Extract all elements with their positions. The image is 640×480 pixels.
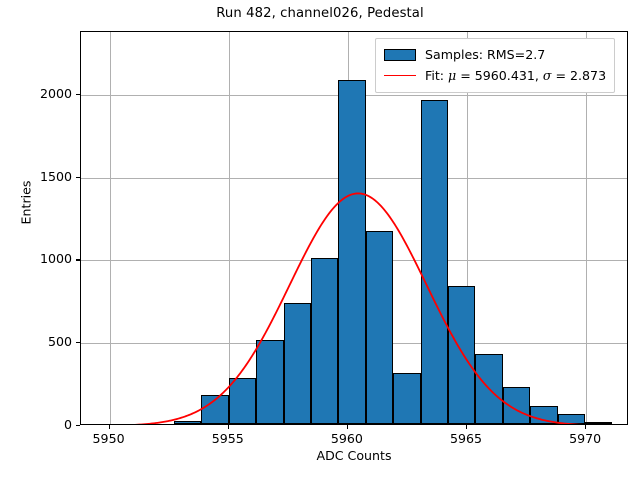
legend-label-samples: Samples: RMS=2.7 bbox=[425, 47, 545, 62]
x-tick-label-0: 5950 bbox=[74, 431, 144, 446]
table-row bbox=[530, 406, 557, 424]
table-row bbox=[256, 340, 283, 424]
table-row bbox=[284, 303, 311, 424]
y-tick-label-0: 0 bbox=[12, 417, 72, 432]
table-row bbox=[558, 414, 585, 424]
table-row bbox=[503, 387, 530, 424]
legend-mu-symbol: μ bbox=[448, 68, 456, 83]
chart-legend: Samples: RMS=2.7 Fit: μ = 5960.431, σ = … bbox=[375, 38, 615, 93]
table-row bbox=[393, 373, 420, 424]
chart-figure: Run 482, channel026, Pedestal 5950595559… bbox=[0, 0, 640, 480]
x-tick-mark-0 bbox=[109, 425, 110, 429]
legend-sigma-value: = 2.873 bbox=[551, 68, 606, 83]
y-tick-mark-4 bbox=[76, 94, 80, 95]
x-tick-mark-3 bbox=[466, 425, 467, 429]
legend-fit-prefix: Fit: bbox=[425, 68, 448, 83]
table-row bbox=[174, 421, 201, 424]
x-tick-mark-1 bbox=[228, 425, 229, 429]
gridline-vertical-1 bbox=[229, 32, 230, 424]
legend-entry-samples: Samples: RMS=2.7 bbox=[384, 44, 606, 65]
legend-line-icon bbox=[384, 75, 416, 76]
gridline-vertical-0 bbox=[110, 32, 111, 424]
x-tick-label-2: 5960 bbox=[312, 431, 382, 446]
x-tick-label-1: 5955 bbox=[193, 431, 263, 446]
y-tick-mark-1 bbox=[76, 342, 80, 343]
x-axis-label: ADC Counts bbox=[80, 448, 628, 463]
table-row bbox=[338, 80, 365, 424]
legend-patch-icon bbox=[384, 49, 416, 61]
y-tick-mark-3 bbox=[76, 177, 80, 178]
y-tick-label-4: 2000 bbox=[12, 86, 72, 101]
table-row bbox=[475, 354, 502, 424]
y-tick-mark-2 bbox=[76, 259, 80, 260]
table-row bbox=[311, 258, 338, 424]
y-tick-mark-0 bbox=[76, 425, 80, 426]
table-row bbox=[448, 286, 475, 424]
table-row bbox=[366, 231, 393, 424]
legend-entry-fit: Fit: μ = 5960.431, σ = 2.873 bbox=[384, 65, 606, 86]
table-row bbox=[421, 100, 448, 424]
x-tick-mark-2 bbox=[347, 425, 348, 429]
table-row bbox=[201, 395, 228, 424]
table-row bbox=[585, 422, 612, 424]
legend-mu-value: = 5960.431, bbox=[456, 68, 543, 83]
x-tick-label-4: 5970 bbox=[550, 431, 620, 446]
x-tick-label-3: 5965 bbox=[431, 431, 501, 446]
y-tick-label-1: 500 bbox=[12, 334, 72, 349]
y-axis-label: Entries bbox=[19, 143, 34, 263]
x-tick-mark-4 bbox=[585, 425, 586, 429]
legend-label-fit: Fit: μ = 5960.431, σ = 2.873 bbox=[425, 68, 606, 83]
table-row bbox=[229, 378, 256, 424]
chart-title: Run 482, channel026, Pedestal bbox=[0, 6, 640, 21]
